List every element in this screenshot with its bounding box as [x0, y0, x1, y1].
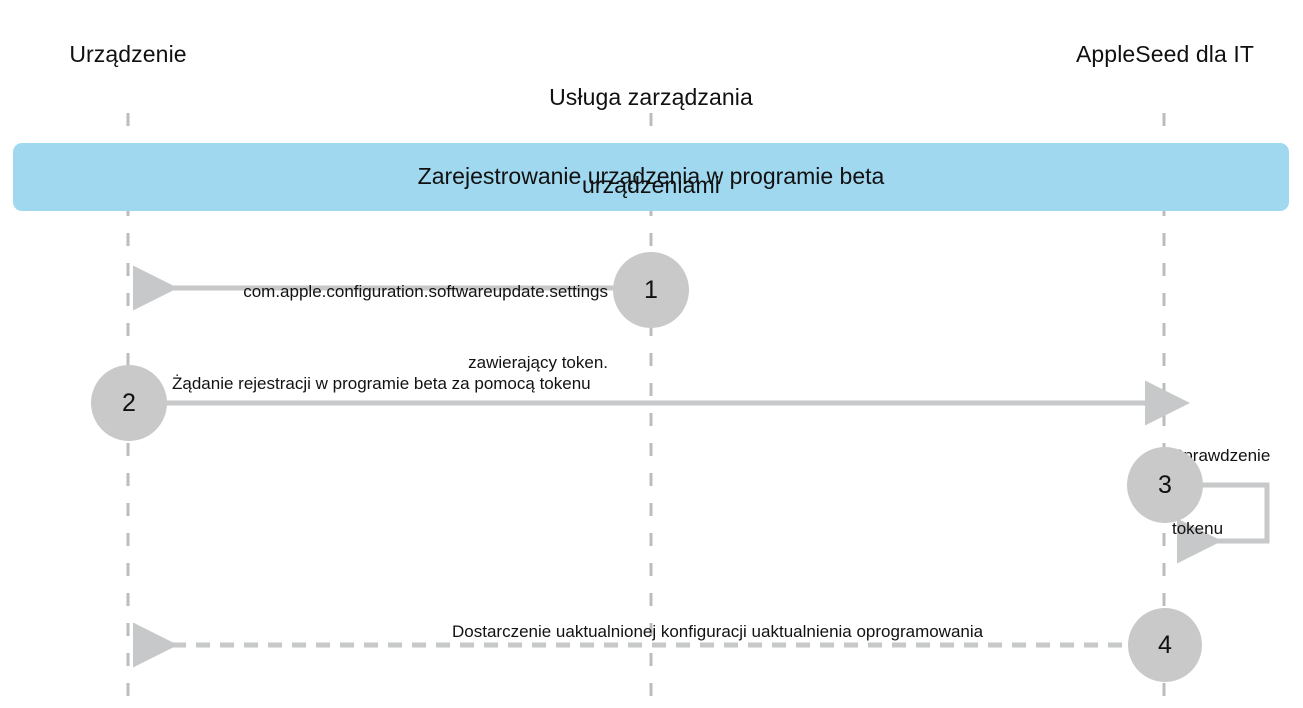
phase-banner-label: Zarejestrowanie urządzenia w programie b… [13, 162, 1289, 191]
message-label-1-line1: com.apple.configuration.softwareupdate.s… [120, 280, 608, 304]
step-badge-2: 2 [91, 365, 167, 441]
step-badge-4: 4 [1128, 608, 1202, 682]
message-label-3-line2: tokenu [1172, 517, 1270, 541]
lifeline-header-appleseed: AppleSeed dla IT [1025, 40, 1303, 69]
step-badge-1: 1 [613, 252, 689, 328]
message-label-4: Dostarczenie uaktualnionej konfiguracji … [452, 621, 983, 643]
message-label-1-line2: zawierający token. [120, 351, 608, 375]
message-label-2: Żądanie rejestracji w programie beta za … [172, 373, 591, 395]
lifeline-header-device: Urządzenie [18, 40, 238, 69]
step-badge-3: 3 [1127, 447, 1203, 523]
lifeline-header-mdm-line1: Usługa zarządzania [481, 83, 821, 112]
lifeline-header-mdm: Usługa zarządzania urządzeniami [481, 24, 821, 260]
sequence-diagram: Urządzenie Usługa zarządzania urządzenia… [0, 0, 1303, 708]
